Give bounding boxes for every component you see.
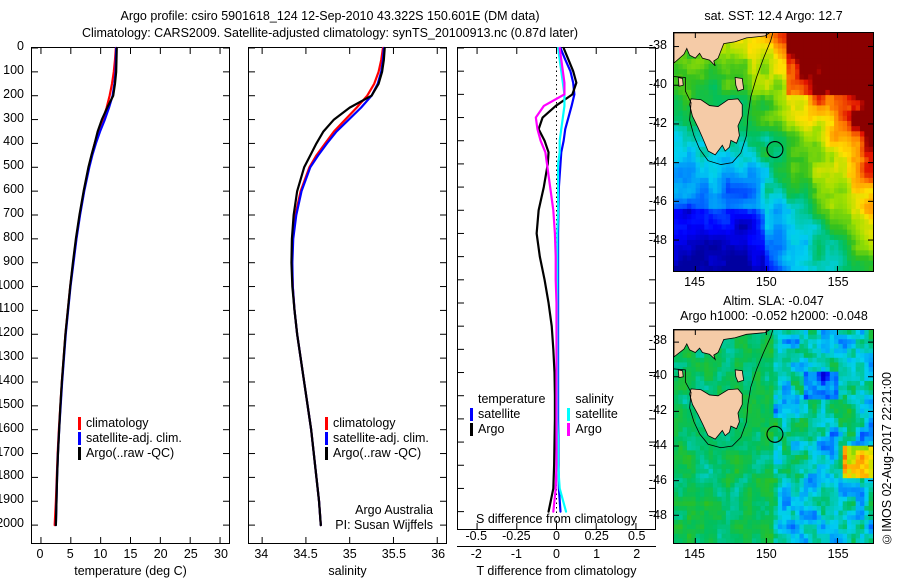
map-lat-tick-label: -44: [649, 155, 667, 169]
temperature-axis-label: temperature (deg C): [31, 564, 230, 578]
depth-tick-label: 1300: [0, 349, 24, 363]
map-lon-tick-label: 150: [756, 547, 777, 561]
depth-tick-label: 1000: [0, 278, 24, 292]
salinity-axis-label: salinity: [248, 564, 447, 578]
legend-color-swatch: [325, 432, 328, 445]
attribution-org: Argo Australia: [247, 503, 433, 517]
depth-tick-label: 900: [3, 254, 24, 268]
depth-tick-label: 300: [3, 111, 24, 125]
depth-tick-label: 0: [17, 39, 24, 53]
map-lon-tick-label: 145: [684, 547, 705, 561]
axis-tick-label: 35: [343, 547, 357, 561]
legend-item: climatology: [325, 416, 429, 431]
map-lat-tick-label: -42: [649, 403, 667, 417]
legend-color-swatch: [78, 432, 81, 445]
legend-color-swatch: [470, 408, 473, 421]
axis-tick-label: 25: [184, 547, 198, 561]
legend-item: Argo: [470, 422, 545, 437]
legend-item-label: climatology: [333, 416, 396, 431]
legend-item-label: Argo(..raw -QC): [333, 446, 421, 461]
legend-item-label: satellite: [478, 407, 520, 422]
axis-tick-label: 0.25: [584, 529, 608, 543]
depth-tick-label: 1800: [0, 468, 24, 482]
legend-color-swatch: [567, 423, 570, 436]
legend-color-swatch: [78, 447, 81, 460]
legend-column: temperaturesatelliteArgo: [470, 392, 545, 437]
temperature-plot-frame: [31, 47, 230, 544]
legend-item-label: Argo(..raw -QC): [86, 446, 174, 461]
header-line-2: Climatology: CARS2009. Satellite-adjuste…: [0, 26, 660, 40]
axis-tick-label: 34.5: [293, 547, 317, 561]
sla-map-frame: [673, 329, 874, 544]
legend-item: satellite-adj. clim.: [78, 431, 182, 446]
legend-column-heading: temperature: [478, 392, 545, 407]
depth-tick-label: 2000: [0, 516, 24, 530]
sla-map-title-line-2: Argo h1000: -0.052 h2000: -0.048: [655, 309, 893, 323]
legend-item-label: satellite-adj. clim.: [86, 431, 182, 446]
map-lat-tick-label: -40: [649, 368, 667, 382]
axis-tick-label: 2: [633, 547, 640, 561]
axis-tick-label: 20: [154, 547, 168, 561]
legend-color-swatch: [325, 447, 328, 460]
axis-tick-label: 0: [553, 547, 560, 561]
depth-tick-label: 700: [3, 206, 24, 220]
depth-tick-label: 500: [3, 158, 24, 172]
s-difference-axis-label: S difference from climatology: [457, 512, 656, 526]
legend-item-label: Argo: [478, 422, 504, 437]
axis-tick-label: 36: [431, 547, 445, 561]
axis-tick-label: 1: [593, 547, 600, 561]
axis-tick-label: 35.5: [382, 547, 406, 561]
salinity-legend: climatologysatellite-adj. clim.Argo(..ra…: [325, 416, 429, 461]
legend-item: Argo: [567, 422, 617, 437]
map-lat-tick-label: -40: [649, 77, 667, 91]
depth-tick-label: 1600: [0, 421, 24, 435]
map-lat-tick-label: -46: [649, 473, 667, 487]
map-lat-tick-label: -38: [649, 333, 667, 347]
legend-column-heading: salinity: [575, 392, 617, 407]
depth-tick-label: 1900: [0, 492, 24, 506]
legend-item: satellite: [470, 407, 545, 422]
axis-tick-label: 0: [37, 547, 44, 561]
map-lon-tick-label: 150: [756, 275, 777, 289]
axis-tick-label: -1: [511, 547, 522, 561]
axis-tick-label: -0.5: [465, 529, 487, 543]
axis-tick-label: 0: [553, 529, 560, 543]
map-lon-tick-label: 145: [684, 275, 705, 289]
depth-tick-label: 400: [3, 134, 24, 148]
legend-color-swatch: [567, 408, 570, 421]
map-lon-tick-label: 155: [828, 275, 849, 289]
axis-tick-label: 10: [93, 547, 107, 561]
map-lat-tick-label: -42: [649, 116, 667, 130]
map-lat-tick-label: -38: [649, 38, 667, 52]
salinity-plot-frame: [248, 47, 447, 544]
legend-item-label: climatology: [86, 416, 149, 431]
axis-tick-label: 30: [214, 547, 228, 561]
depth-tick-label: 1700: [0, 445, 24, 459]
sst-map-frame: [673, 32, 874, 272]
attribution-pi: PI: Susan Wijffels: [247, 518, 433, 532]
difference-plot-frame: [457, 47, 656, 530]
sst-map-title: sat. SST: 12.4 Argo: 12.7: [666, 9, 881, 23]
axis-tick-label: -2: [471, 547, 482, 561]
header-line-1: Argo profile: csiro 5901618_124 12-Sep-2…: [0, 9, 660, 23]
temperature-legend: climatologysatellite-adj. clim.Argo(..ra…: [78, 416, 182, 461]
legend-item-label: Argo: [575, 422, 601, 437]
copyright-label: ©IMOS 02-Aug-2017 22:21:00: [880, 372, 894, 546]
legend-item-label: satellite-adj. clim.: [333, 431, 429, 446]
legend-column: salinitysatelliteArgo: [567, 392, 617, 437]
axis-tick-label: -0.25: [502, 529, 531, 543]
legend-color-swatch: [325, 417, 328, 430]
t-difference-axis-label: T difference from climatology: [457, 564, 656, 578]
legend-color-swatch: [78, 417, 81, 430]
legend-item: Argo(..raw -QC): [325, 446, 429, 461]
depth-tick-label: 800: [3, 230, 24, 244]
depth-tick-label: 1100: [0, 301, 24, 315]
axis-tick-label: 34: [254, 547, 268, 561]
sla-map-title-line-1: Altim. SLA: -0.047: [666, 294, 881, 308]
temperature-depth-ticks: 0100200300400500600700800900100011001200…: [0, 47, 28, 544]
depth-tick-label: 1200: [0, 325, 24, 339]
sla-map-y-ticks: -38-40-42-44-46-48: [640, 329, 670, 544]
depth-tick-label: 600: [3, 182, 24, 196]
map-lat-tick-label: -44: [649, 438, 667, 452]
depth-tick-label: 1500: [0, 397, 24, 411]
map-lat-tick-label: -48: [649, 233, 667, 247]
axis-tick-label: 15: [124, 547, 138, 561]
depth-tick-label: 100: [3, 63, 24, 77]
legend-item-label: satellite: [575, 407, 617, 422]
depth-tick-label: 1400: [0, 373, 24, 387]
map-lat-tick-label: -46: [649, 194, 667, 208]
sst-map-y-ticks: -38-40-42-44-46-48: [640, 32, 670, 272]
legend-item: satellite: [567, 407, 617, 422]
legend-item: Argo(..raw -QC): [78, 446, 182, 461]
legend-item: climatology: [78, 416, 182, 431]
difference-legend: temperaturesatelliteArgosalinitysatellit…: [470, 392, 650, 437]
map-lon-tick-label: 155: [828, 547, 849, 561]
legend-color-swatch: [470, 423, 473, 436]
depth-tick-label: 200: [3, 87, 24, 101]
axis-tick-label: 5: [67, 547, 74, 561]
map-lat-tick-label: -48: [649, 508, 667, 522]
legend-item: satellite-adj. clim.: [325, 431, 429, 446]
